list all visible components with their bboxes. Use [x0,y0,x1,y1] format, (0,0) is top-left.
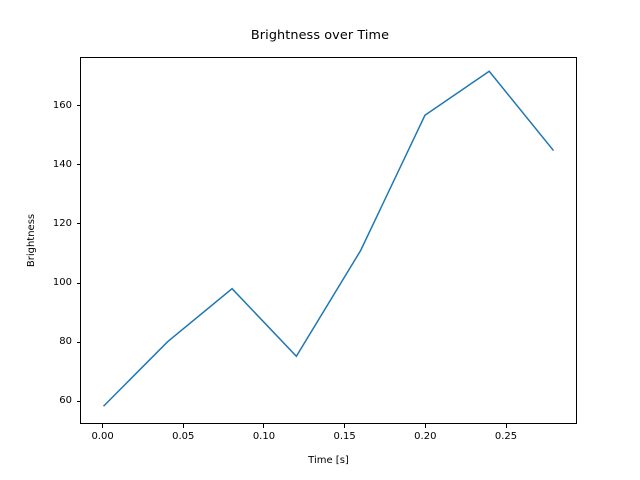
x-axis-label: Time [s] [80,455,577,466]
figure-canvas: Brightness over Time 6080100120140160 0.… [0,0,640,480]
x-tick-mark [506,424,507,428]
y-tick-mark [77,164,81,165]
y-tick-label: 120 [53,219,72,229]
x-tick-label: 0.25 [476,432,536,442]
y-axis-label: Brightness [26,57,40,424]
x-tick-label: 0.00 [73,432,133,442]
chart-title: Brightness over Time [0,28,640,43]
y-tick-mark [77,401,81,402]
y-tick-mark [77,223,81,224]
y-tick-mark [77,105,81,106]
y-tick-label: 140 [53,160,72,170]
y-tick-mark [77,342,81,343]
x-tick-label: 0.20 [395,432,455,442]
y-tick-label: 100 [53,278,72,288]
x-tick-mark [183,424,184,428]
x-tick-mark [344,424,345,428]
x-tick-label: 0.15 [315,432,375,442]
y-tick-label: 80 [59,337,72,347]
y-tick-label: 160 [53,101,72,111]
x-tick-mark [425,424,426,428]
plot-axes-area [80,57,577,424]
x-tick-mark [102,424,103,428]
line-series-svg [81,58,576,423]
data-line-brightness [103,71,553,406]
x-tick-label: 0.05 [153,432,213,442]
y-tick-mark [77,283,81,284]
x-tick-label: 0.10 [234,432,294,442]
y-tick-label: 60 [59,396,72,406]
x-tick-mark [263,424,264,428]
